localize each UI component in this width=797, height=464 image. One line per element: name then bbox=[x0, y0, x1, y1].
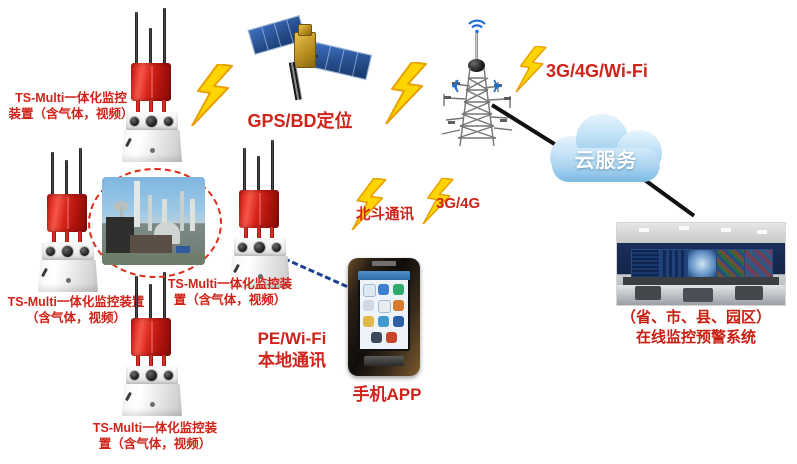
app-icon-6[interactable] bbox=[393, 300, 404, 311]
app-icon-9[interactable] bbox=[393, 316, 404, 327]
ceiling-light-2 bbox=[679, 226, 689, 230]
antenna-center bbox=[257, 156, 260, 192]
desk-console-1 bbox=[635, 286, 661, 300]
antenna-center bbox=[149, 28, 152, 66]
video-wall bbox=[631, 249, 773, 279]
sensor-port-2 bbox=[254, 242, 265, 253]
comm-tower[interactable] bbox=[428, 18, 526, 148]
sensor-port-2 bbox=[146, 370, 157, 381]
satellite-body bbox=[294, 32, 316, 68]
antenna-right bbox=[163, 8, 166, 66]
tablet-top-port bbox=[372, 261, 396, 266]
app-icon-grid bbox=[362, 283, 406, 347]
device-red-housing bbox=[47, 194, 87, 232]
sensor-port-1 bbox=[46, 247, 55, 256]
photo-tower-4 bbox=[190, 199, 195, 231]
wall-panel-3 bbox=[688, 250, 716, 278]
app-icon-2[interactable] bbox=[378, 284, 389, 295]
label-phone-app: 手机APP bbox=[340, 384, 434, 406]
device-led bbox=[150, 402, 155, 407]
label-gps-bd: GPS/BD定位 bbox=[220, 110, 380, 133]
sensor-port-1 bbox=[130, 371, 139, 380]
antenna-left bbox=[51, 152, 54, 196]
ceiling-light-4 bbox=[757, 230, 767, 234]
cloud-service[interactable]: 云服务 bbox=[546, 112, 666, 188]
app-icon-4[interactable] bbox=[363, 300, 374, 311]
satellite[interactable] bbox=[250, 12, 368, 104]
satellite-antenna-horn bbox=[298, 24, 312, 36]
wall-panel-2 bbox=[660, 250, 688, 278]
device-white-cone bbox=[122, 384, 182, 416]
device-white-cone bbox=[38, 260, 98, 292]
device-led bbox=[66, 278, 71, 283]
refinery-photo bbox=[102, 177, 205, 265]
antenna-left bbox=[135, 12, 138, 64]
bolt-satellite-to-tower bbox=[382, 62, 430, 124]
sensor-port-3 bbox=[80, 247, 89, 256]
app-icon-1[interactable] bbox=[363, 284, 376, 297]
label-local-comm: PE/Wi-Fi 本地通讯 bbox=[232, 328, 352, 372]
device-red-housing bbox=[239, 190, 279, 228]
photo-tower-3 bbox=[180, 191, 184, 231]
antenna-left bbox=[243, 148, 246, 192]
photo-chimney bbox=[134, 181, 140, 227]
ceiling-light-3 bbox=[721, 228, 731, 232]
app-icon-8[interactable] bbox=[378, 316, 389, 327]
desk-console-3 bbox=[735, 286, 763, 300]
wall-panel-4 bbox=[717, 250, 745, 278]
label-3g4g: 3G/4G bbox=[436, 194, 506, 213]
control-room-photo bbox=[616, 222, 786, 306]
sensor-device-bottom[interactable] bbox=[108, 272, 200, 422]
photo-blue-drums bbox=[176, 246, 190, 253]
antenna-center bbox=[65, 160, 68, 196]
sensor-device-top[interactable] bbox=[108, 8, 200, 168]
app-icon-5[interactable] bbox=[378, 300, 391, 313]
tablet-keypad[interactable] bbox=[364, 356, 404, 366]
device-led bbox=[150, 148, 155, 153]
wifi-left-icon bbox=[444, 78, 460, 94]
sensor-port-3 bbox=[164, 117, 173, 126]
label-device-bottom: TS-Multi一体化监控装 置（含气体，视频） bbox=[72, 420, 238, 452]
app-icon-3[interactable] bbox=[393, 284, 404, 295]
label-device-top: TS-Multi一体化监控 装置（含气体，视频） bbox=[0, 90, 142, 122]
tablet-screen[interactable] bbox=[358, 271, 410, 351]
sensor-port-3 bbox=[272, 243, 281, 252]
antenna-center bbox=[149, 284, 152, 320]
photo-ground bbox=[102, 253, 205, 265]
cloud-label: 云服务 bbox=[546, 144, 666, 173]
sensor-port-2 bbox=[62, 246, 73, 257]
sensor-device-right[interactable] bbox=[216, 140, 308, 290]
sensor-port-1 bbox=[238, 243, 247, 252]
diagram-canvas: TS-Multi一体化监控 装置（含气体，视频） TS-Multi一体化监控装置… bbox=[0, 0, 797, 464]
antenna-right bbox=[163, 272, 166, 320]
app-icon-7[interactable] bbox=[363, 316, 374, 327]
photo-tower-1 bbox=[148, 195, 152, 231]
wifi-top-icon bbox=[467, 18, 487, 34]
antenna-right bbox=[271, 140, 274, 192]
antenna-right bbox=[79, 148, 82, 196]
wall-panel-5 bbox=[745, 250, 772, 278]
label-3g4g-wifi: 3G/4G/Wi-Fi bbox=[546, 60, 706, 83]
device-white-cone bbox=[122, 130, 182, 162]
device-red-housing bbox=[131, 318, 171, 356]
rugged-tablet[interactable] bbox=[348, 258, 420, 376]
sensor-port-3 bbox=[164, 371, 173, 380]
app-icon-11[interactable] bbox=[386, 332, 397, 343]
wall-panel-1 bbox=[632, 250, 660, 278]
sensor-port-2 bbox=[146, 116, 157, 127]
desk-console-2 bbox=[683, 288, 713, 302]
label-control-center: （省、市、县、园区） 在线监控预警系统 bbox=[596, 308, 796, 349]
label-beidou-comm: 北斗通讯 bbox=[340, 206, 430, 225]
photo-shed bbox=[130, 235, 172, 255]
solar-panel-right bbox=[310, 42, 372, 80]
antenna-left bbox=[135, 276, 138, 320]
tower-mast bbox=[475, 33, 478, 61]
ceiling-light-1 bbox=[639, 228, 649, 232]
app-icon-10[interactable] bbox=[371, 332, 382, 343]
wifi-right-icon bbox=[492, 78, 508, 94]
screen-status-bar bbox=[358, 271, 410, 280]
